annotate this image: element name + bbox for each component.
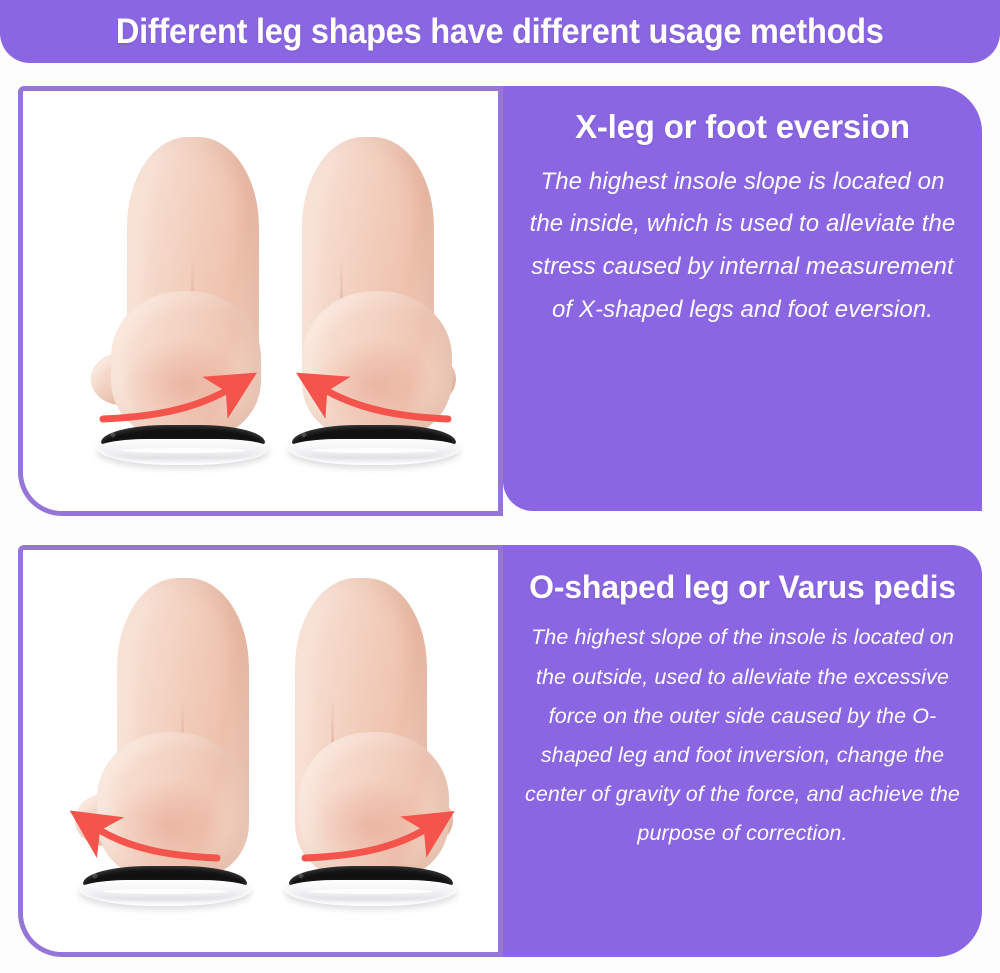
force-arrow-left (67, 812, 257, 882)
force-arrow-right (281, 812, 471, 882)
card-heading-x-leg: X-leg or foot eversion (575, 108, 910, 147)
photo-pane-o-shaped-leg (18, 545, 503, 957)
insole-base-right (285, 880, 457, 906)
feet-illustration-o-shaped-leg (23, 550, 498, 952)
card-o-shaped-leg: O-shaped leg or Varus pedis The highest … (18, 545, 982, 957)
force-arrow-right (276, 371, 466, 441)
insole-base-right (288, 439, 460, 465)
feet-illustration-x-leg (23, 91, 498, 511)
force-arrow-left (93, 371, 283, 441)
insole-base-left (79, 880, 251, 906)
card-x-leg: X-leg or foot eversion The highest insol… (18, 86, 982, 516)
card-body-o-shaped-leg: The highest slope of the insole is locat… (519, 618, 966, 853)
card-heading-o-shaped-leg: O-shaped leg or Varus pedis (529, 569, 956, 606)
insole-base-left (97, 439, 269, 465)
header-banner: Different leg shapes have different usag… (0, 0, 1000, 63)
text-pane-o-shaped-leg: O-shaped leg or Varus pedis The highest … (503, 545, 982, 957)
card-body-x-leg: The highest insole slope is located on t… (525, 161, 960, 332)
text-pane-x-leg: X-leg or foot eversion The highest insol… (503, 86, 982, 511)
photo-pane-x-leg (18, 86, 503, 516)
page-title: Different leg shapes have different usag… (116, 14, 884, 49)
